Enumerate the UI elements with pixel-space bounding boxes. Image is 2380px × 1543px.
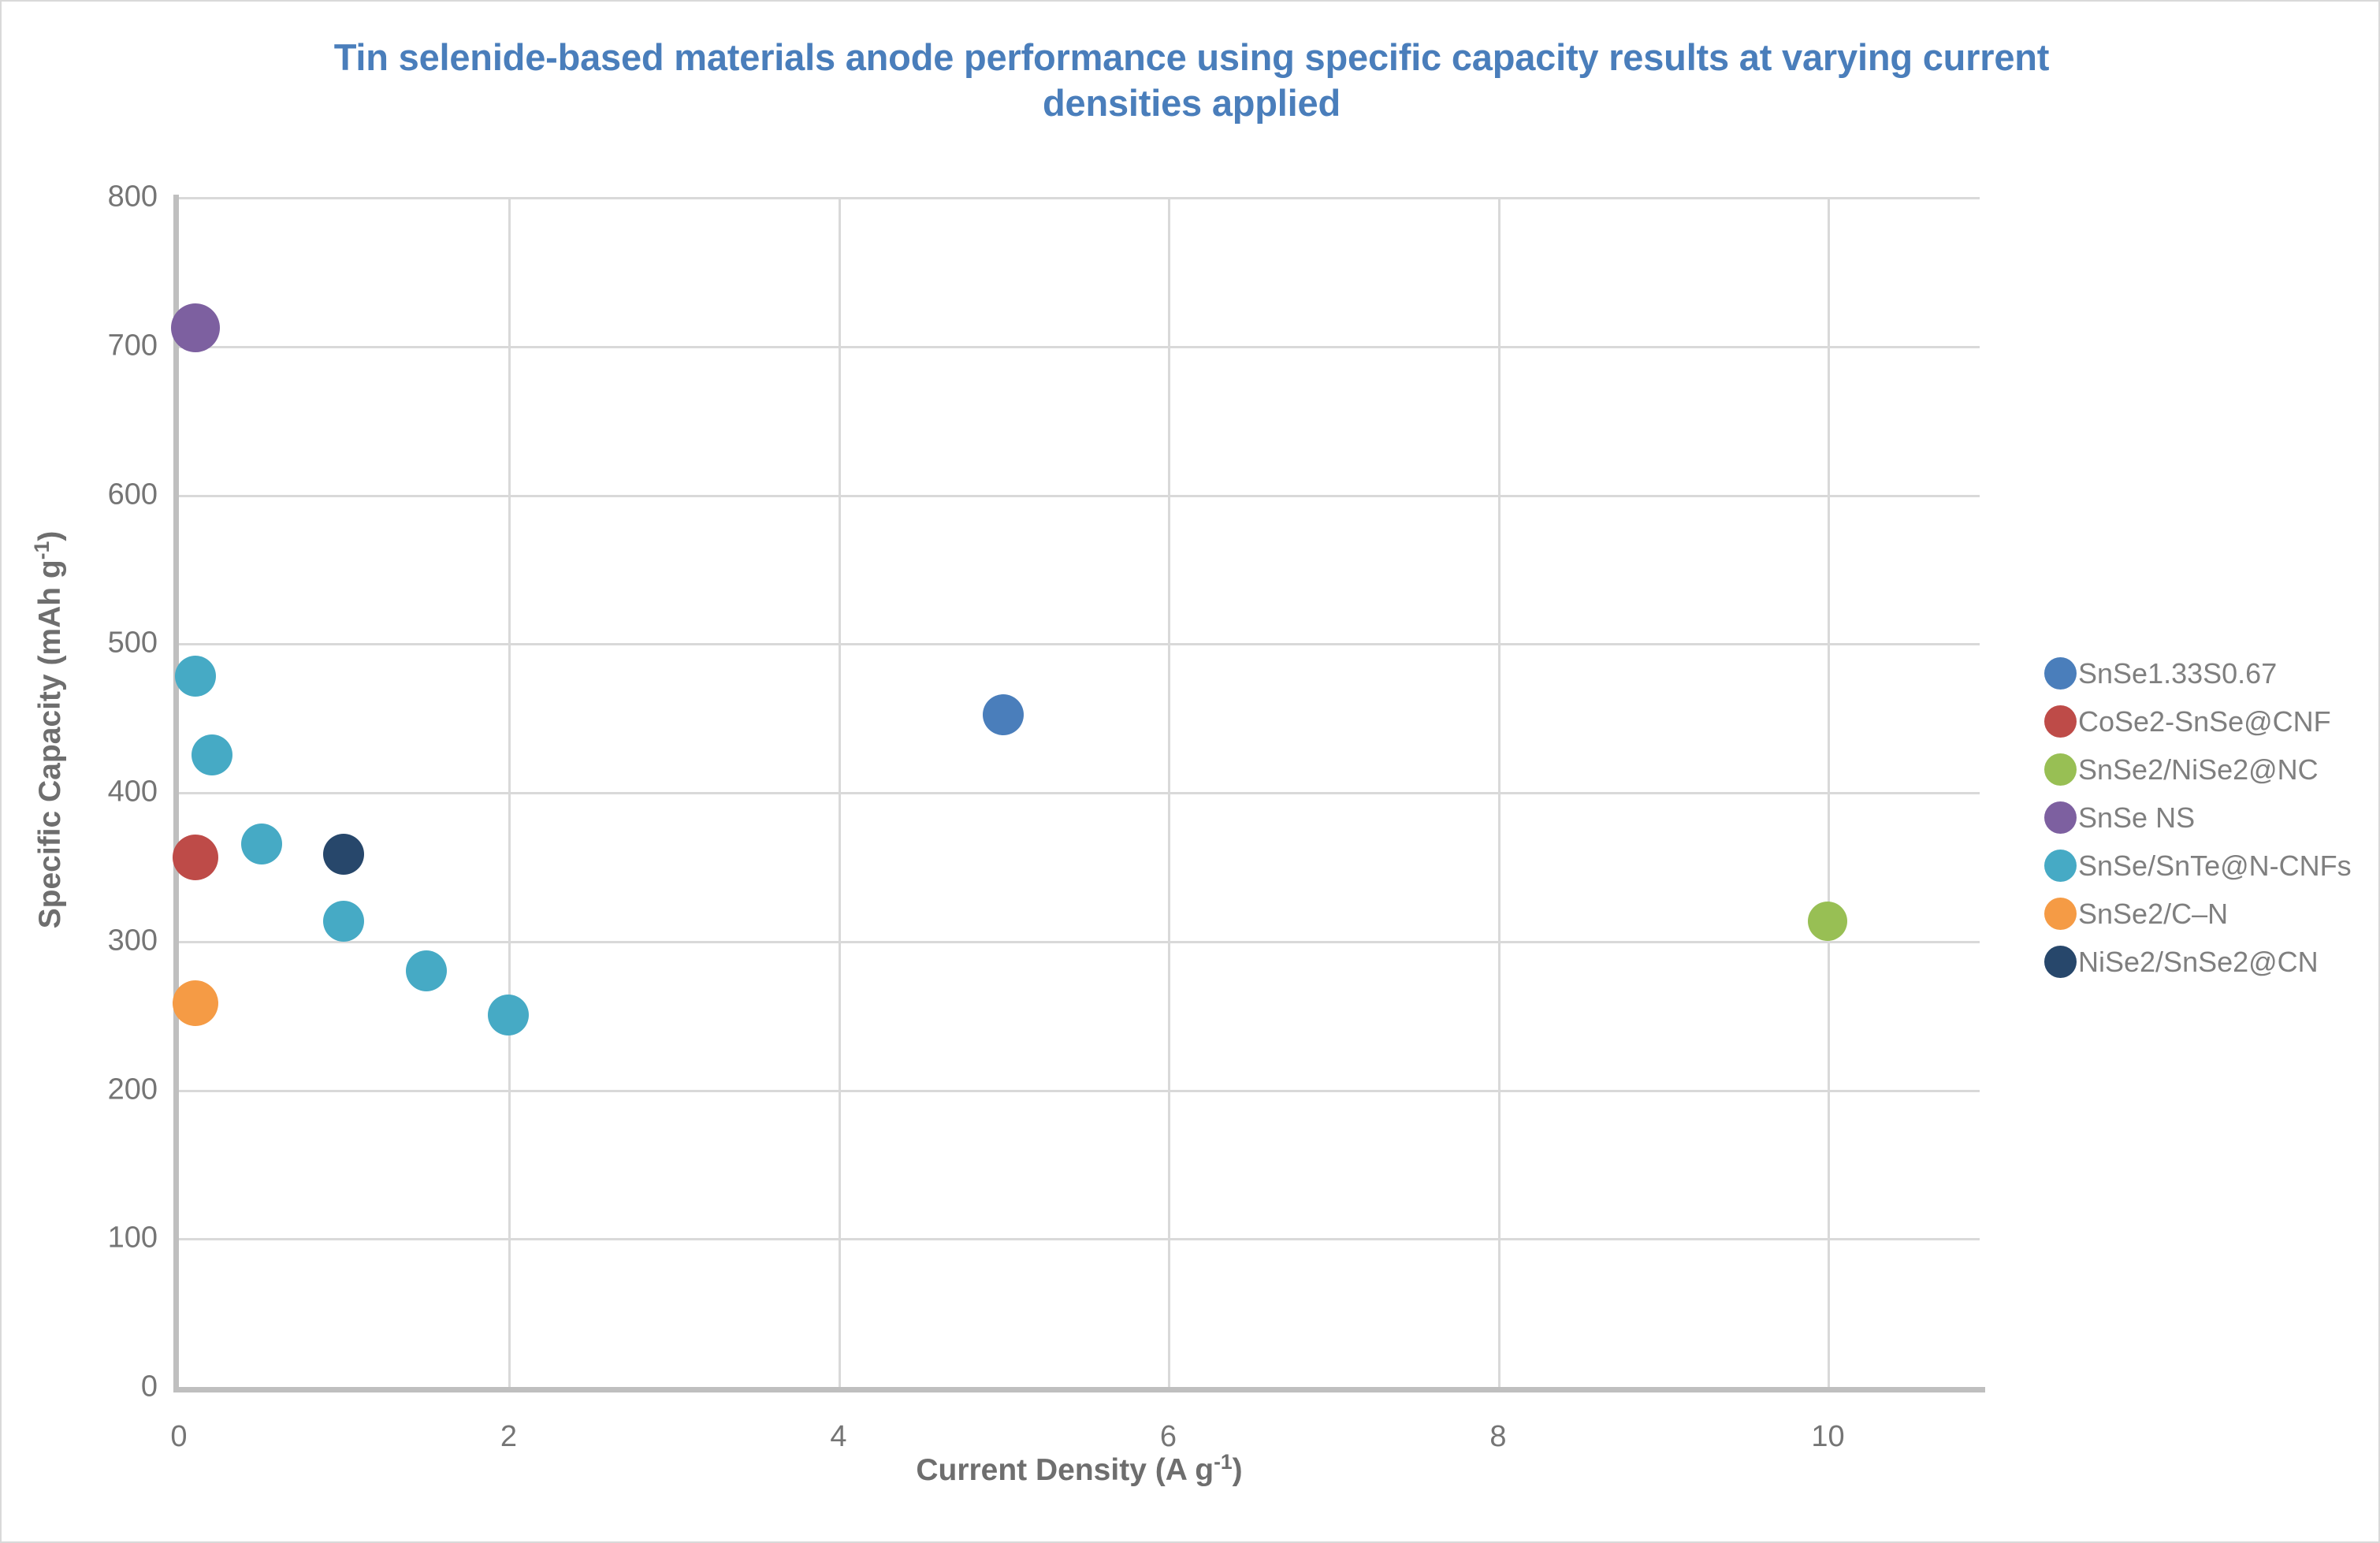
x-axis-tick-label: 4 [830, 1420, 846, 1454]
legend-marker-icon [2044, 705, 2077, 738]
legend-item-label: SnSe2/NiSe2@NC [2078, 756, 2319, 784]
y-axis-tick-label: 200 [108, 1073, 158, 1106]
y-axis-tick-label: 700 [108, 329, 158, 363]
y-axis-title-suffix: ) [33, 531, 67, 541]
y-axis-title-prefix: Specific Capacity (mAh g [33, 560, 67, 928]
legend-marker-icon [2044, 657, 2077, 690]
data-point[interactable] [173, 835, 218, 880]
legend-marker-icon [2044, 753, 2077, 786]
gridline-horizontal [179, 941, 1980, 943]
y-axis-title-exponent: -1 [30, 541, 54, 560]
legend-item[interactable]: CoSe2-SnSe@CNF [2044, 697, 2367, 745]
legend-item[interactable]: SnSe2/NiSe2@NC [2044, 745, 2367, 794]
y-axis-tick-label: 500 [108, 626, 158, 660]
chart-title-line-1: Tin selenide-based materials anode perfo… [334, 36, 1913, 78]
legend-item-label: SnSe1.33S0.67 [2078, 660, 2277, 688]
gridline-vertical [1498, 197, 1501, 1387]
legend-item-label: SnSe NS [2078, 804, 2195, 832]
data-point[interactable] [1808, 902, 1847, 941]
gridline-vertical [839, 197, 841, 1387]
data-point[interactable] [171, 303, 220, 352]
plot-top-border [179, 197, 1980, 199]
y-axis-tick-label: 600 [108, 478, 158, 511]
x-axis-tick-label: 2 [500, 1420, 517, 1454]
data-point[interactable] [323, 901, 364, 942]
gridline-horizontal [179, 643, 1980, 645]
legend-item-label: CoSe2-SnSe@CNF [2078, 708, 2331, 736]
plot-area [179, 197, 1980, 1387]
gridline-horizontal [179, 1090, 1980, 1092]
gridline-vertical [508, 197, 511, 1387]
y-axis-tick-label: 800 [108, 180, 158, 214]
chart-legend: SnSe1.33S0.67CoSe2-SnSe@CNFSnSe2/NiSe2@N… [2044, 649, 2367, 986]
y-axis-tick-label: 100 [108, 1221, 158, 1255]
data-point[interactable] [192, 734, 232, 775]
x-axis-tick-label: 8 [1489, 1420, 1506, 1454]
data-point[interactable] [241, 824, 282, 864]
data-point[interactable] [175, 656, 216, 697]
gridline-vertical [1828, 197, 1830, 1387]
legend-marker-icon [2044, 801, 2077, 834]
x-axis-title-exponent: -1 [1214, 1450, 1233, 1474]
legend-item-label: NiSe2/SnSe2@CN [2078, 948, 2319, 976]
gridline-horizontal [179, 1238, 1980, 1240]
data-point[interactable] [406, 950, 447, 991]
x-axis-tick-label: 0 [170, 1420, 187, 1454]
legend-marker-icon [2044, 946, 2077, 978]
legend-item-label: SnSe2/C–N [2078, 900, 2228, 928]
y-axis-line [173, 195, 179, 1389]
legend-marker-icon [2044, 850, 2077, 882]
x-axis-title-suffix: ) [1233, 1453, 1243, 1487]
data-point[interactable] [173, 980, 218, 1026]
legend-item-label: SnSe/SnTe@N-CNFs [2078, 852, 2352, 880]
y-axis-tick-label: 0 [141, 1370, 158, 1404]
x-axis-tick-label: 6 [1160, 1420, 1177, 1454]
gridline-horizontal [179, 792, 1980, 794]
gridline-horizontal [179, 495, 1980, 497]
data-point[interactable] [323, 834, 364, 875]
legend-item[interactable]: SnSe/SnTe@N-CNFs [2044, 842, 2367, 890]
legend-marker-icon [2044, 898, 2077, 930]
data-point[interactable] [488, 995, 529, 1035]
y-axis-title: Specific Capacity (mAh g-1) [30, 375, 68, 1084]
x-axis-title-prefix: Current Density (A g [916, 1453, 1214, 1487]
x-axis-title: Current Density (A g-1) [179, 1450, 1980, 1488]
x-axis-line [173, 1387, 1985, 1392]
chart-title: Tin selenide-based materials anode perfo… [262, 35, 2122, 126]
gridline-vertical [1168, 197, 1170, 1387]
gridline-horizontal [179, 346, 1980, 348]
legend-item[interactable]: NiSe2/SnSe2@CN [2044, 938, 2367, 986]
y-axis-tick-label: 400 [108, 775, 158, 809]
legend-item[interactable]: SnSe1.33S0.67 [2044, 649, 2367, 697]
data-point[interactable] [983, 694, 1024, 735]
legend-item[interactable]: SnSe NS [2044, 794, 2367, 842]
chart-page: Tin selenide-based materials anode perfo… [0, 0, 2380, 1543]
y-axis-tick-label: 300 [108, 924, 158, 957]
legend-item[interactable]: SnSe2/C–N [2044, 890, 2367, 938]
x-axis-tick-label: 10 [1811, 1420, 1844, 1454]
